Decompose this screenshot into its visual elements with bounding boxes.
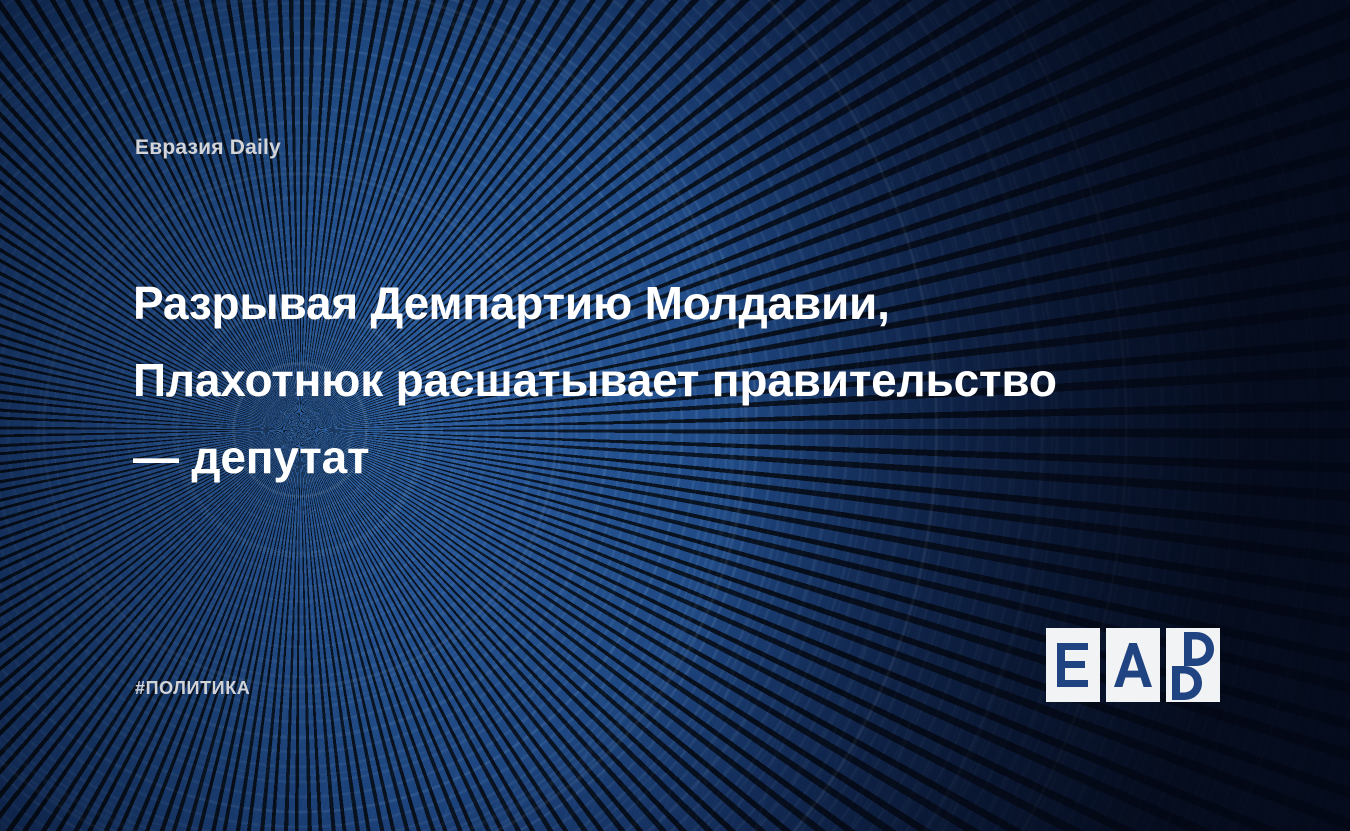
brand-name: Евразия Daily xyxy=(135,136,281,160)
news-card: Евразия Daily Разрывая Демпартию Молдави… xyxy=(0,0,1350,831)
letter-d-upper-icon xyxy=(1166,628,1220,666)
letter-a-icon xyxy=(1114,643,1152,687)
letter-e-icon xyxy=(1057,643,1089,687)
page-title: Разрывая Демпартию Молдавии, Плахотнюк р… xyxy=(133,265,1063,496)
logo-tile-e xyxy=(1046,628,1100,702)
logo-tile-a xyxy=(1106,628,1160,702)
category-tag[interactable]: #ПОЛИТИКА xyxy=(135,678,250,699)
letter-d-lower-icon xyxy=(1166,666,1220,702)
eadaily-logo[interactable] xyxy=(1046,628,1220,702)
logo-tile-d xyxy=(1166,628,1220,702)
card-content: Евразия Daily Разрывая Демпартию Молдави… xyxy=(0,0,1350,831)
